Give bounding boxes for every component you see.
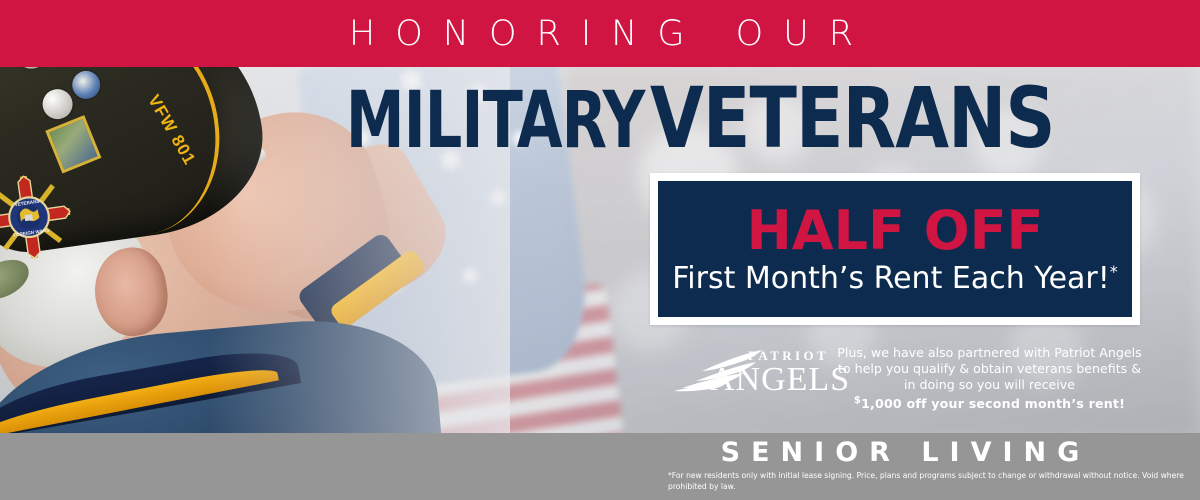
logo-text-angels: ANGELS [710,363,850,397]
veterans-promo-banner: ✱ ✱ ✱ ✱ ✱ ✱ ✱ ✱ ✱ ✱ ∫∫ VFW 801 [0,0,1200,500]
offer-headline: HALF OFF [747,203,1044,258]
headline-word-military: MILITARY [346,82,645,160]
page-title: MILITARYVETERANS [0,76,1090,160]
offer-asterisk: * [1110,262,1118,281]
flag-star-icon: ✱ [460,264,481,288]
legal-disclaimer: *For new residents only with initial lea… [668,470,1188,492]
saluting-veteran-photo: ∫∫ VFW 801 [0,0,420,500]
honoring-text: HONORING OUR [327,14,873,54]
partner-section: PATRIOT ANGELS Plus, we have also partne… [672,343,1142,415]
offer-inner: HALF OFF First Month’s Rent Each Year!* [658,181,1132,317]
partner-copy: Plus, we have also partnered with Patrio… [837,343,1142,413]
headline-word-veterans: VETERANS [650,76,1055,160]
bonus-currency: $ [854,395,861,406]
bonus-text: 1,000 off your second month’s rent! [861,397,1125,412]
offer-callout-box: HALF OFF First Month’s Rent Each Year!* [650,173,1140,325]
patriot-angels-wordmark: PATRIOT ANGELS [748,349,850,397]
flag-star-icon: ✱ [487,186,510,212]
partner-bonus-line: $1,000 off your second month’s rent! [837,395,1142,412]
honoring-banner-bar: HONORING OUR [0,0,1200,67]
brand-name: SENIOR LIVING [640,437,1160,468]
patriot-angels-logo: PATRIOT ANGELS [672,343,837,409]
offer-subline: First Month’s Rent Each Year! [672,261,1110,296]
partner-copy-text: Plus, we have also partnered with Patrio… [837,345,1141,392]
vfw-emblem-icon: VETERANS FOREIGN WARS [0,169,78,266]
offer-subline-row: First Month’s Rent Each Year!* [672,262,1118,295]
